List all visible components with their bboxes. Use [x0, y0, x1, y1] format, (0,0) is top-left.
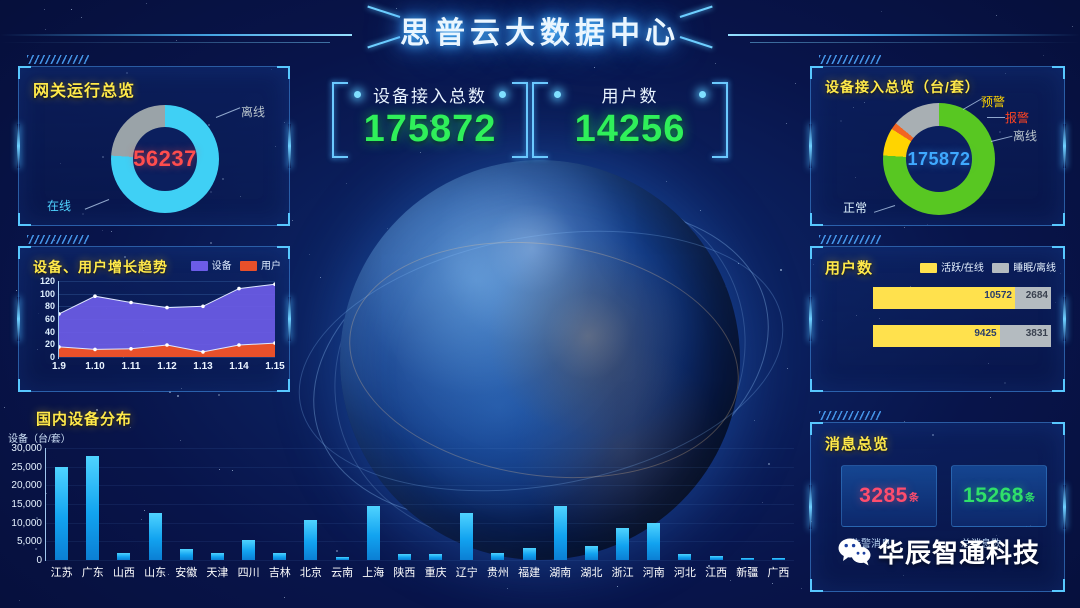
panel-hatch-decoration [27, 235, 89, 244]
distribution-x-tick-label: 上海 [358, 564, 389, 580]
panel-user-count: 用户数 活跃/在线 睡眠/离线 10572268494253831 活跃程度在线… [810, 246, 1065, 392]
distribution-x-tick-label: 安徽 [171, 564, 202, 580]
trend-x-tick-label: 1.15 [261, 361, 289, 372]
distribution-x-tick-label: 河南 [638, 564, 669, 580]
user-bar-segment[interactable]: 10572 [873, 287, 1015, 309]
distribution-chart-plot[interactable] [46, 448, 794, 560]
distribution-x-tick-label: 福建 [514, 564, 545, 580]
trend-legend-swatch-user [240, 261, 257, 271]
device-access-label-normal: 正常 [843, 199, 867, 216]
panel-device-access-overview: 设备接入总览（台/套） 175872 预警 报警 离线 正常 [810, 66, 1065, 226]
gateway-donut-center-value: 56237 [133, 146, 197, 172]
panel-growth-trend: 设备、用户增长趋势 设备 用户 020406080100120 1.91.101… [18, 246, 290, 392]
user-chart-plot[interactable]: 10572268494253831 [873, 283, 1051, 365]
trend-grid-line [59, 357, 275, 358]
panel-hatch-decoration [819, 235, 881, 244]
panel-title-message: 消息总览 [825, 433, 889, 454]
watermark-text: 华辰智通科技 [878, 533, 1040, 570]
device-access-donut-chart[interactable]: 175872 [883, 103, 995, 215]
distribution-x-tick-label: 湖北 [576, 564, 607, 580]
device-access-label-alarm: 报警 [1005, 109, 1029, 126]
user-legend-swatch-sleep [992, 263, 1009, 273]
distribution-x-tick-label: 广西 [763, 564, 794, 580]
panel-gateway-overview: 网关运行总览 56237 离线 在线 [18, 66, 290, 226]
alarm-leader-line [987, 117, 1005, 118]
distribution-bar[interactable] [741, 558, 754, 560]
user-legend-swatch-active [920, 263, 937, 273]
distribution-bar[interactable] [336, 557, 349, 560]
message-total-unit: 条 [1025, 489, 1035, 504]
panel-title-gateway: 网关运行总览 [33, 77, 135, 101]
distribution-x-tick-label: 浙江 [607, 564, 638, 580]
panel-title-distribution: 国内设备分布 [36, 408, 132, 429]
gateway-label-offline: 离线 [241, 103, 265, 120]
user-bar-value-label: 10572 [984, 290, 1012, 301]
distribution-y-tick-label: 5,000 [0, 536, 42, 547]
trend-chart-plot[interactable] [59, 281, 275, 357]
user-legend-item-sleep[interactable]: 睡眠/离线 [992, 263, 1056, 274]
distribution-bar[interactable] [523, 548, 536, 560]
trend-y-tick-label: 80 [31, 301, 55, 311]
distribution-y-tick-label: 20,000 [0, 480, 42, 491]
online-leader-line [85, 199, 109, 210]
kpi-device-total-label: 设备接入总数 [332, 82, 528, 107]
distribution-bar[interactable] [55, 467, 68, 560]
distribution-y-tick-label: 30,000 [0, 443, 42, 454]
dashboard-header: 思普云大数据中心 [0, 0, 1080, 58]
gateway-label-online: 在线 [47, 197, 71, 214]
message-total-value: 15268 [963, 484, 1024, 508]
distribution-bar[interactable] [491, 553, 504, 561]
distribution-bar[interactable] [242, 540, 255, 561]
user-bar-value-label: 3831 [1026, 328, 1048, 339]
trend-x-tick-label: 1.13 [189, 361, 217, 372]
user-bar-value-label: 9425 [974, 328, 996, 339]
trend-y-tick-label: 40 [31, 327, 55, 337]
distribution-x-tick-label: 北京 [295, 564, 326, 580]
distribution-x-tick-label: 云南 [327, 564, 358, 580]
distribution-x-tick-label: 江苏 [46, 564, 77, 580]
user-legend: 活跃/在线 睡眠/离线 [920, 259, 1056, 274]
distribution-bar[interactable] [554, 506, 567, 560]
distribution-grid-line [46, 448, 794, 449]
distribution-y-tick-label: 0 [0, 555, 42, 566]
user-bar-segment[interactable]: 3831 [1000, 325, 1051, 347]
trend-x-tick-label: 1.12 [153, 361, 181, 372]
trend-y-axis-line [58, 281, 59, 359]
distribution-bar[interactable] [117, 553, 130, 560]
distribution-grid-line [46, 467, 794, 468]
gateway-donut-hole: 56237 [133, 127, 197, 191]
distribution-grid-line [46, 504, 794, 505]
distribution-bar[interactable] [460, 513, 473, 560]
trend-x-tick-label: 1.10 [81, 361, 109, 372]
device-access-label-offline: 离线 [1013, 127, 1037, 144]
distribution-x-tick-label: 新疆 [732, 564, 763, 580]
device-access-label-warning: 预警 [981, 93, 1005, 110]
page-title: 思普云大数据中心 [0, 8, 1080, 52]
trend-y-tick-label: 100 [31, 289, 55, 299]
trend-y-tick-label: 20 [31, 339, 55, 349]
distribution-y-tick-label: 10,000 [0, 518, 42, 529]
gateway-donut-chart[interactable]: 56237 [111, 105, 219, 213]
panel-title-user-count: 用户数 [825, 257, 873, 278]
panel-title-device-access: 设备接入总览（台/套） [825, 77, 980, 97]
trend-legend-swatch-device [191, 261, 208, 271]
trend-y-tick-label: 60 [31, 314, 55, 324]
distribution-y-axis-line [45, 448, 46, 561]
distribution-x-tick-label: 重庆 [420, 564, 451, 580]
user-bar-segment[interactable]: 9425 [873, 325, 1000, 347]
distribution-y-tick-label: 15,000 [0, 499, 42, 510]
distribution-x-tick-label: 河北 [669, 564, 700, 580]
kpi-user-total: 用户数 14256 [532, 72, 728, 168]
distribution-y-tick-label: 25,000 [0, 462, 42, 473]
distribution-bar[interactable] [273, 553, 286, 561]
trend-x-tick-label: 1.11 [117, 361, 145, 372]
distribution-bar[interactable] [585, 546, 598, 560]
distribution-bar[interactable] [678, 554, 691, 560]
kpi-device-total: 设备接入总数 175872 [332, 72, 528, 168]
kpi-user-total-value: 14256 [532, 108, 728, 151]
warning-leader-line [963, 98, 983, 110]
distribution-bar[interactable] [710, 556, 723, 560]
trend-area-svg [59, 281, 275, 357]
distribution-x-tick-label: 辽宁 [451, 564, 482, 580]
user-bar-value-label: 2684 [1026, 290, 1048, 301]
device-access-donut-center-value: 175872 [907, 149, 970, 170]
distribution-bar[interactable] [398, 554, 411, 560]
offline-leader-line [216, 107, 240, 118]
distribution-x-tick-label: 贵州 [482, 564, 513, 580]
distribution-bar[interactable] [86, 456, 99, 561]
distribution-bar[interactable] [304, 520, 317, 560]
wechat-icon [838, 538, 872, 566]
distribution-bar[interactable] [180, 549, 193, 560]
trend-legend: 设备 用户 [191, 257, 281, 272]
offline-leader-line [991, 136, 1013, 142]
distribution-x-tick-label: 江西 [701, 564, 732, 580]
message-alarm-unit: 条 [909, 489, 919, 504]
distribution-x-tick-label: 山东 [140, 564, 171, 580]
watermark-brand: 华辰智通科技 [838, 533, 1040, 570]
kpi-device-total-value: 175872 [332, 108, 528, 151]
distribution-x-tick-label: 陕西 [389, 564, 420, 580]
distribution-bar[interactable] [616, 528, 629, 560]
message-card-alarm[interactable]: 3285 条 [841, 465, 937, 527]
normal-leader-line [874, 205, 895, 213]
distribution-x-tick-label: 四川 [233, 564, 264, 580]
distribution-bar[interactable] [429, 554, 442, 560]
distribution-x-tick-label: 广东 [77, 564, 108, 580]
distribution-x-tick-label: 山西 [108, 564, 139, 580]
distribution-bar[interactable] [211, 553, 224, 561]
distribution-x-tick-label: 湖南 [545, 564, 576, 580]
user-legend-item-active[interactable]: 活跃/在线 [920, 263, 987, 274]
distribution-bar[interactable] [647, 523, 660, 560]
distribution-x-tick-label: 天津 [202, 564, 233, 580]
distribution-bar[interactable] [149, 513, 162, 560]
panel-hatch-decoration [819, 411, 881, 420]
trend-legend-item-user[interactable]: 用户 [240, 261, 281, 272]
distribution-bar[interactable] [772, 558, 785, 560]
panel-device-distribution: 国内设备分布 设备（台/套） 05,00010,00015,00020,0002… [0, 404, 800, 608]
trend-x-tick-label: 1.14 [225, 361, 253, 372]
trend-x-tick-label: 1.9 [45, 361, 73, 372]
distribution-bar[interactable] [367, 506, 380, 560]
trend-legend-item-device[interactable]: 设备 [191, 261, 235, 272]
device-access-donut-hole: 175872 [906, 126, 972, 192]
distribution-grid-line [46, 560, 794, 561]
trend-y-tick-label: 120 [31, 276, 55, 286]
kpi-user-total-label: 用户数 [532, 82, 728, 107]
user-bar-segment[interactable]: 2684 [1015, 287, 1051, 309]
message-card-total[interactable]: 15268 条 [951, 465, 1047, 527]
message-alarm-value: 3285 [859, 484, 908, 508]
distribution-x-tick-label: 吉林 [264, 564, 295, 580]
distribution-grid-line [46, 485, 794, 486]
panel-title-trend: 设备、用户增长趋势 [33, 257, 168, 277]
